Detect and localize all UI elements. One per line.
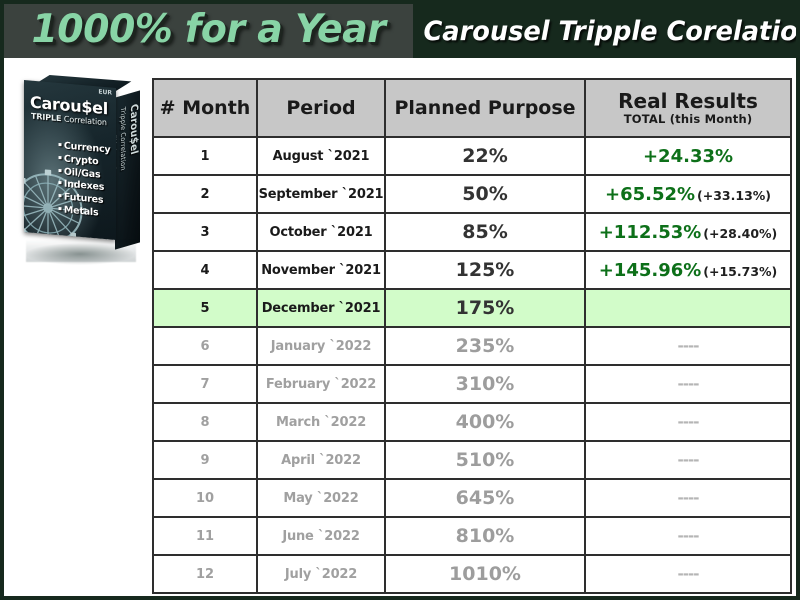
cell-month-number: 8 bbox=[153, 403, 257, 441]
cell-planned-purpose: 510% bbox=[385, 441, 585, 479]
cell-month-number: 5 bbox=[153, 289, 257, 327]
table-row: 2September `202150%+65.52%(+33.13%) bbox=[153, 175, 791, 213]
cell-month-number: 11 bbox=[153, 517, 257, 555]
product-title-panel: Carousel Tripple Corelation EA bbox=[413, 4, 796, 58]
cell-real-results: ---- bbox=[585, 517, 791, 555]
cell-period: February `2022 bbox=[257, 365, 385, 403]
cell-planned-purpose: 50% bbox=[385, 175, 585, 213]
cell-real-results: +24.33% bbox=[585, 137, 791, 175]
box-reflection bbox=[26, 236, 136, 262]
real-result-month-delta: (+33.13%) bbox=[697, 188, 771, 203]
cell-real-results: ---- bbox=[585, 327, 791, 365]
cell-planned-purpose: 125% bbox=[385, 251, 585, 289]
cell-planned-purpose: 645% bbox=[385, 479, 585, 517]
table-header: # Month Period Planned Purpose Real Resu… bbox=[153, 79, 791, 137]
box-spine-title: Carou$el Tripple Correlation bbox=[117, 103, 139, 219]
table-row: 10May `2022645%---- bbox=[153, 479, 791, 517]
real-result-total: ---- bbox=[678, 451, 699, 469]
cell-period: January `2022 bbox=[257, 327, 385, 365]
performance-table-wrapper: # Month Period Planned Purpose Real Resu… bbox=[152, 78, 790, 594]
real-result-month-delta: (+15.73%) bbox=[703, 264, 777, 279]
real-result-total: ---- bbox=[678, 337, 699, 355]
cell-month-number: 4 bbox=[153, 251, 257, 289]
table-row: 7February `2022310%---- bbox=[153, 365, 791, 403]
cell-period: April `2022 bbox=[257, 441, 385, 479]
cell-real-results: ---- bbox=[585, 479, 791, 517]
real-result-total: +145.96% bbox=[599, 260, 702, 281]
column-header-real-results-sub: TOTAL (this Month) bbox=[586, 112, 790, 126]
cell-real-results: ---- bbox=[585, 441, 791, 479]
cell-real-results: +112.53%(+28.40%) bbox=[585, 213, 791, 251]
column-header-real-results: Real Results TOTAL (this Month) bbox=[585, 79, 791, 137]
cell-real-results: +145.96%(+15.73%) bbox=[585, 251, 791, 289]
product-title-text: Carousel Tripple Corelation EA bbox=[413, 18, 796, 45]
table-row: 1August `202122%+24.33% bbox=[153, 137, 791, 175]
cell-period: September `2021 bbox=[257, 175, 385, 213]
box-front-face: EUR Carou$el TRIPLE Correlation Currency… bbox=[24, 80, 116, 240]
cell-period: March `2022 bbox=[257, 403, 385, 441]
cell-planned-purpose: 22% bbox=[385, 137, 585, 175]
column-header-month: # Month bbox=[153, 79, 257, 137]
cell-period: November `2021 bbox=[257, 251, 385, 289]
column-header-real-results-main: Real Results bbox=[586, 90, 790, 112]
cell-month-number: 9 bbox=[153, 441, 257, 479]
cell-period: May `2022 bbox=[257, 479, 385, 517]
real-result-total: ---- bbox=[678, 527, 699, 545]
cell-month-number: 6 bbox=[153, 327, 257, 365]
box-spine-subtitle-text: Tripple Correlation bbox=[117, 106, 128, 219]
headline-panel: 1000% for a Year bbox=[4, 4, 413, 58]
cell-planned-purpose: 175% bbox=[385, 289, 585, 327]
box-currency-tag: EUR bbox=[98, 88, 112, 96]
table-row: 6January `2022235%---- bbox=[153, 327, 791, 365]
cell-planned-purpose: 810% bbox=[385, 517, 585, 555]
header-banner: 1000% for a Year Carousel Tripple Corela… bbox=[4, 4, 796, 58]
real-result-total: ---- bbox=[678, 489, 699, 507]
real-result-total: ---- bbox=[678, 565, 699, 583]
table-header-row: # Month Period Planned Purpose Real Resu… bbox=[153, 79, 791, 137]
table-row: 4November `2021125%+145.96%(+15.73%) bbox=[153, 251, 791, 289]
cell-planned-purpose: 310% bbox=[385, 365, 585, 403]
table-row: 5December `2021175% bbox=[153, 289, 791, 327]
cell-planned-purpose: 400% bbox=[385, 403, 585, 441]
real-result-total: +65.52% bbox=[605, 184, 695, 205]
cell-period: July `2022 bbox=[257, 555, 385, 593]
cell-real-results bbox=[585, 289, 791, 327]
column-header-period: Period bbox=[257, 79, 385, 137]
cell-period: June `2022 bbox=[257, 517, 385, 555]
cell-month-number: 10 bbox=[153, 479, 257, 517]
real-result-total: +24.33% bbox=[643, 146, 733, 167]
cell-month-number: 7 bbox=[153, 365, 257, 403]
real-result-total: +112.53% bbox=[599, 222, 702, 243]
page-root: 1000% for a Year Carousel Tripple Corela… bbox=[0, 0, 800, 600]
headline-text: 1000% for a Year bbox=[32, 10, 386, 52]
cell-planned-purpose: 85% bbox=[385, 213, 585, 251]
cell-period: August `2021 bbox=[257, 137, 385, 175]
table-row: 11June `2022810%---- bbox=[153, 517, 791, 555]
real-result-total: ---- bbox=[678, 413, 699, 431]
cell-real-results: ---- bbox=[585, 555, 791, 593]
cell-month-number: 2 bbox=[153, 175, 257, 213]
box-spine-title-text: Carou$el bbox=[128, 103, 139, 156]
table-row: 8March `2022400%---- bbox=[153, 403, 791, 441]
performance-table: # Month Period Planned Purpose Real Resu… bbox=[152, 78, 792, 594]
box-subtitle-strong: TRIPLE bbox=[31, 112, 61, 124]
table-body: 1August `202122%+24.33%2September `20215… bbox=[153, 137, 791, 593]
table-row: 12July `20221010%---- bbox=[153, 555, 791, 593]
real-result-total: ---- bbox=[678, 375, 699, 393]
cell-month-number: 1 bbox=[153, 137, 257, 175]
product-box-image: multi-instruments Carou$el Tripple Corre… bbox=[18, 78, 144, 263]
table-row: 9April `2022510%---- bbox=[153, 441, 791, 479]
cell-period: October `2021 bbox=[257, 213, 385, 251]
cell-period: December `2021 bbox=[257, 289, 385, 327]
table-row: 3October `202185%+112.53%(+28.40%) bbox=[153, 213, 791, 251]
cell-month-number: 12 bbox=[153, 555, 257, 593]
box-feature-list: Currency Crypto Oil/Gas Indexes Futures … bbox=[58, 139, 116, 221]
cell-planned-purpose: 1010% bbox=[385, 555, 585, 593]
cell-planned-purpose: 235% bbox=[385, 327, 585, 365]
cell-real-results: ---- bbox=[585, 403, 791, 441]
cell-real-results: +65.52%(+33.13%) bbox=[585, 175, 791, 213]
cell-month-number: 3 bbox=[153, 213, 257, 251]
cell-real-results: ---- bbox=[585, 365, 791, 403]
box-spine: multi-instruments Carou$el Tripple Corre… bbox=[115, 90, 140, 249]
real-result-month-delta: (+28.40%) bbox=[703, 226, 777, 241]
column-header-planned-purpose: Planned Purpose bbox=[385, 79, 585, 137]
